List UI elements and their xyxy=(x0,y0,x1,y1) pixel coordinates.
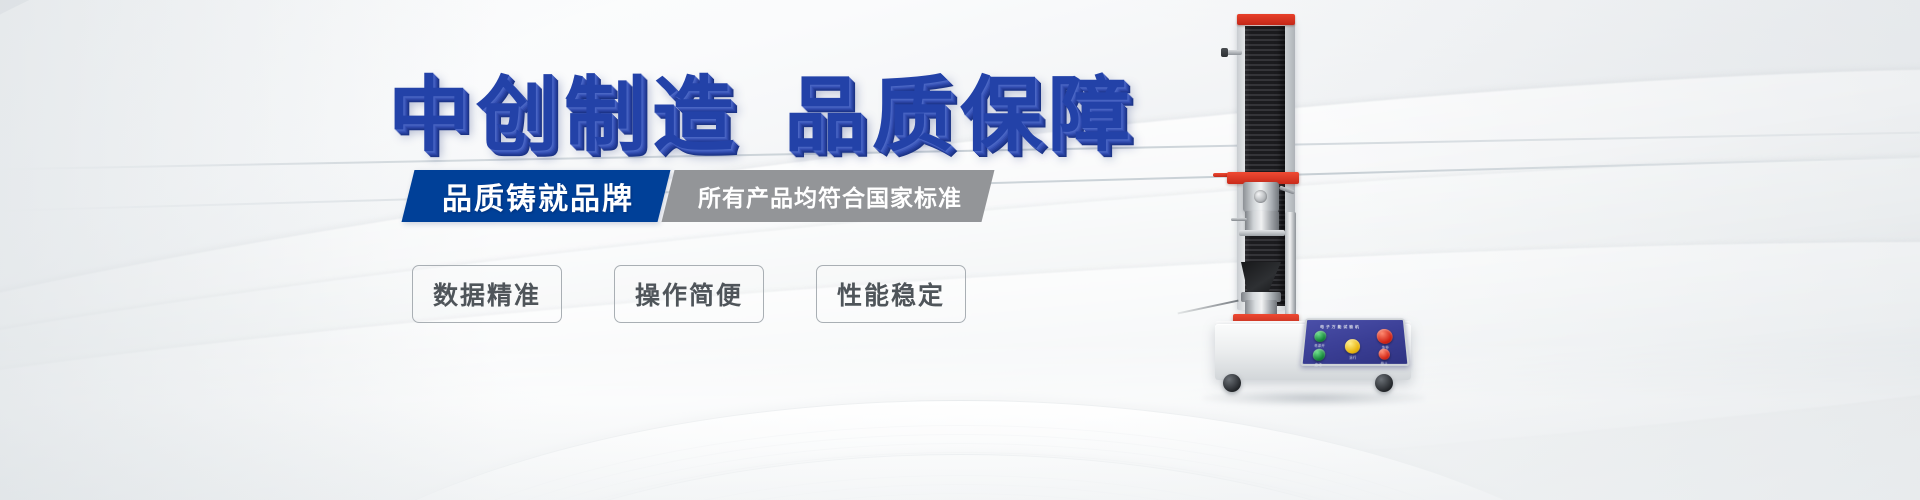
page-title: 中创制造品质保障 xyxy=(388,48,1136,167)
platform-arc-3 xyxy=(338,475,1582,500)
machine-guide-rail xyxy=(1285,212,1296,324)
platform-arc-6 xyxy=(245,434,1675,500)
power-on-button-label: 电源开 xyxy=(1309,343,1330,348)
platform-arc-5 xyxy=(264,443,1656,500)
headline-part-1: 中创制造 xyxy=(388,70,740,161)
floor-shine xyxy=(0,340,1920,500)
platform-arc-7 xyxy=(225,425,1695,500)
background-wall-band-3 xyxy=(0,187,1920,500)
badge-blue: 品质铸就品牌 xyxy=(402,170,671,222)
machine-floor-shadow xyxy=(1203,390,1425,406)
machine-caster-left xyxy=(1223,374,1241,392)
subtitle-band: 品质铸就品牌 所有产品均符合国家标准 xyxy=(408,170,988,222)
badge-label: 品质铸就品牌 xyxy=(442,174,634,218)
machine-limit-switch-icon xyxy=(1226,50,1242,55)
start-button-label: 启动 xyxy=(1308,362,1329,367)
hero-banner: 中创制造品质保障 品质铸就品牌 所有产品均符合国家标准 数据精准 操作简便 性能… xyxy=(0,0,1920,500)
feature-pill-accuracy[interactable]: 数据精准 xyxy=(412,265,562,323)
run-indicator-label: 运行 xyxy=(1343,355,1364,360)
platform-arc-1 xyxy=(378,493,1542,500)
machine-caster-right xyxy=(1375,374,1393,392)
machine-upper-grip-plate xyxy=(1239,230,1285,236)
machine-load-cell xyxy=(1243,182,1279,212)
stop-button-label: 停止 xyxy=(1374,361,1395,366)
headline-part-2: 品质保障 xyxy=(784,70,1136,161)
stop-button[interactable] xyxy=(1378,349,1390,360)
feature-pill-ease-of-use[interactable]: 操作简便 xyxy=(614,265,764,323)
tagline-label: 所有产品均符合国家标准 xyxy=(698,179,962,213)
machine-cable xyxy=(1178,300,1239,314)
platform-arc-4 xyxy=(284,452,1636,500)
machine-top-cap xyxy=(1237,14,1295,25)
emergency-stop-button[interactable] xyxy=(1376,329,1393,344)
feature-pill-list: 数据精准 操作简便 性能稳定 xyxy=(412,265,966,323)
control-panel-title: 电子万能试验机 xyxy=(1320,324,1361,329)
platform-step-outer xyxy=(180,400,1740,500)
platform-arc-2 xyxy=(358,484,1562,500)
tagline-gray: 所有产品均符合国家标准 xyxy=(662,170,995,222)
run-indicator xyxy=(1345,339,1360,354)
power-on-button[interactable] xyxy=(1314,331,1327,342)
feature-pill-stability[interactable]: 性能稳定 xyxy=(816,265,966,323)
platform-step-4 xyxy=(300,454,1620,500)
start-button[interactable] xyxy=(1312,349,1325,361)
machine-upper-grip xyxy=(1245,211,1279,231)
product-image-testing-machine: 电子万能试验机 电源开 急停 运行 启动 停止 xyxy=(1185,6,1415,386)
machine-control-panel[interactable]: 电子万能试验机 电源开 急停 运行 启动 停止 xyxy=(1300,318,1409,366)
